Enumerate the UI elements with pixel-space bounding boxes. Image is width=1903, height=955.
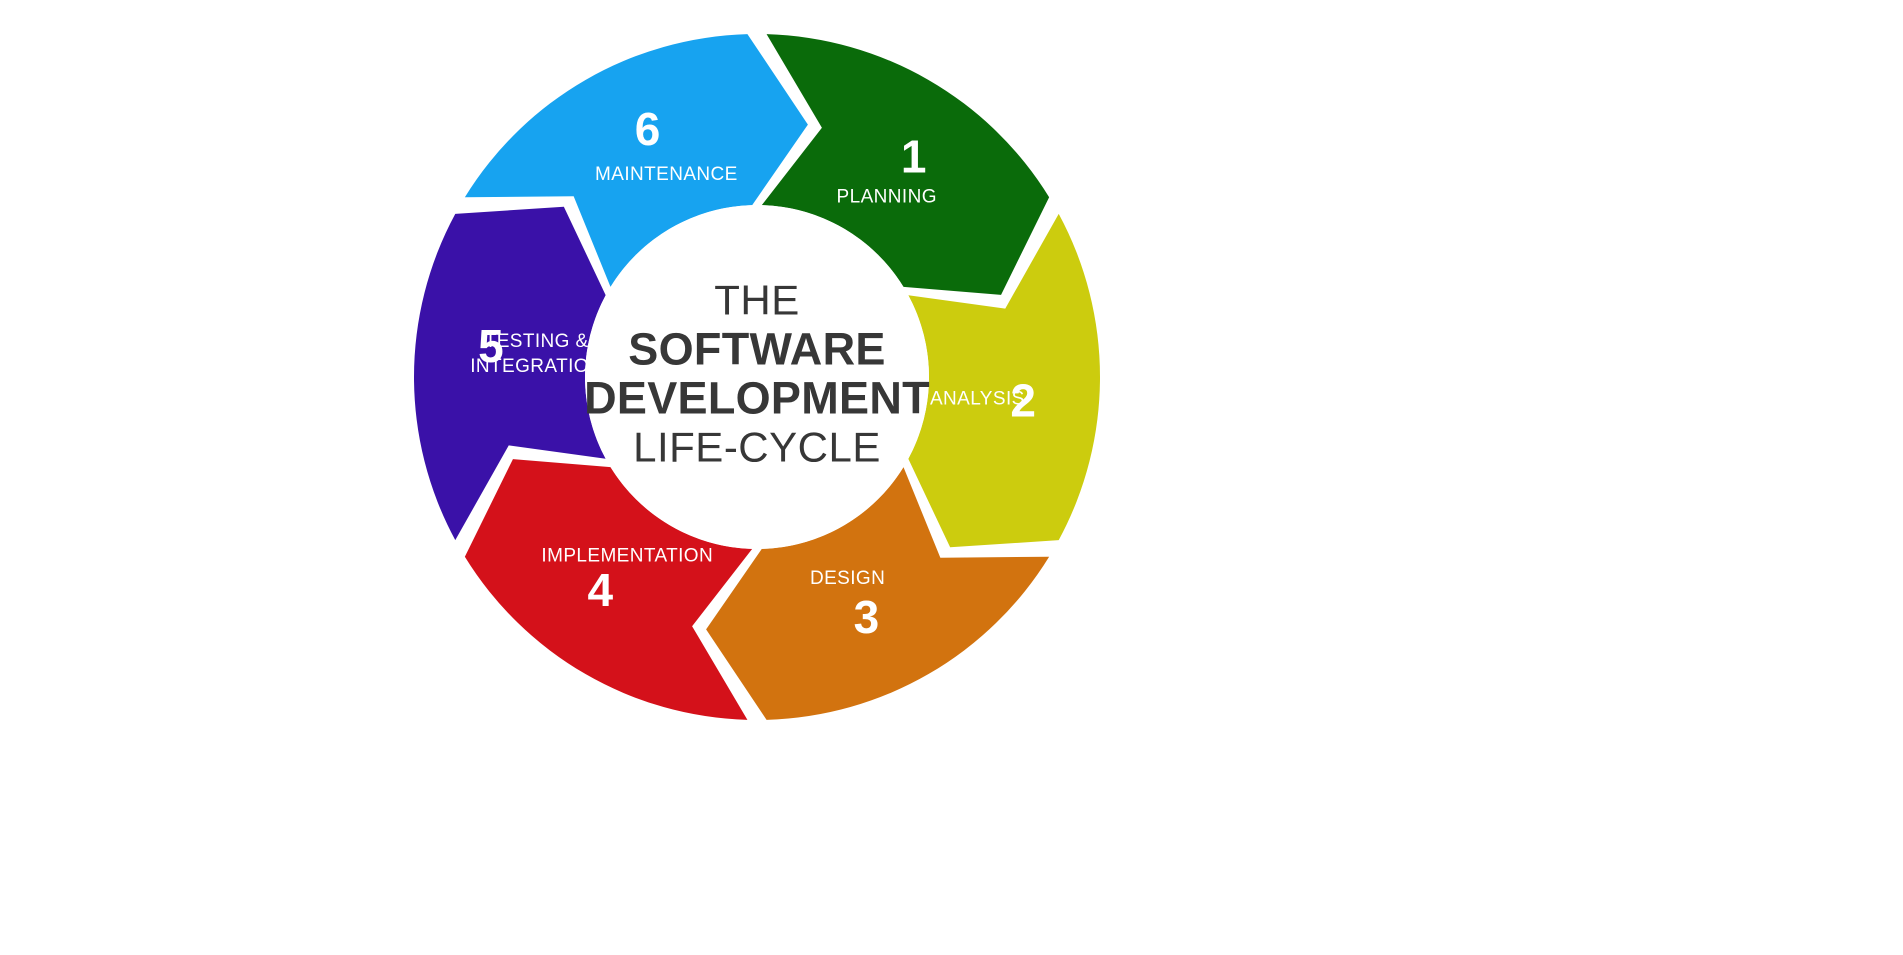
center-title-line: LIFE-CYCLE — [633, 424, 881, 471]
segment-label: DESIGN — [810, 568, 885, 589]
segment-label: TESTING & — [485, 331, 589, 352]
segment-label: PLANNING — [837, 186, 937, 207]
segment-label: IMPLEMENTATION — [541, 546, 713, 567]
segment-number: 4 — [588, 564, 614, 616]
segment-label: MAINTENANCE — [595, 164, 738, 185]
segment-number: 6 — [635, 103, 661, 155]
center-title-line: SOFTWARE — [628, 323, 885, 374]
segment-label: ANALYSIS — [930, 389, 1025, 410]
sdlc-cycle-wheel: 1PLANNING2ANALYSIS3DESIGN4IMPLEMENTATION… — [0, 0, 1903, 955]
center-title-line: DEVELOPMENT — [584, 372, 930, 423]
segment-number: 3 — [854, 591, 880, 643]
diagram-canvas: 1PLANNING2ANALYSIS3DESIGN4IMPLEMENTATION… — [0, 0, 1903, 955]
segment-number: 1 — [901, 130, 927, 182]
center-title-line: THE — [714, 277, 800, 324]
